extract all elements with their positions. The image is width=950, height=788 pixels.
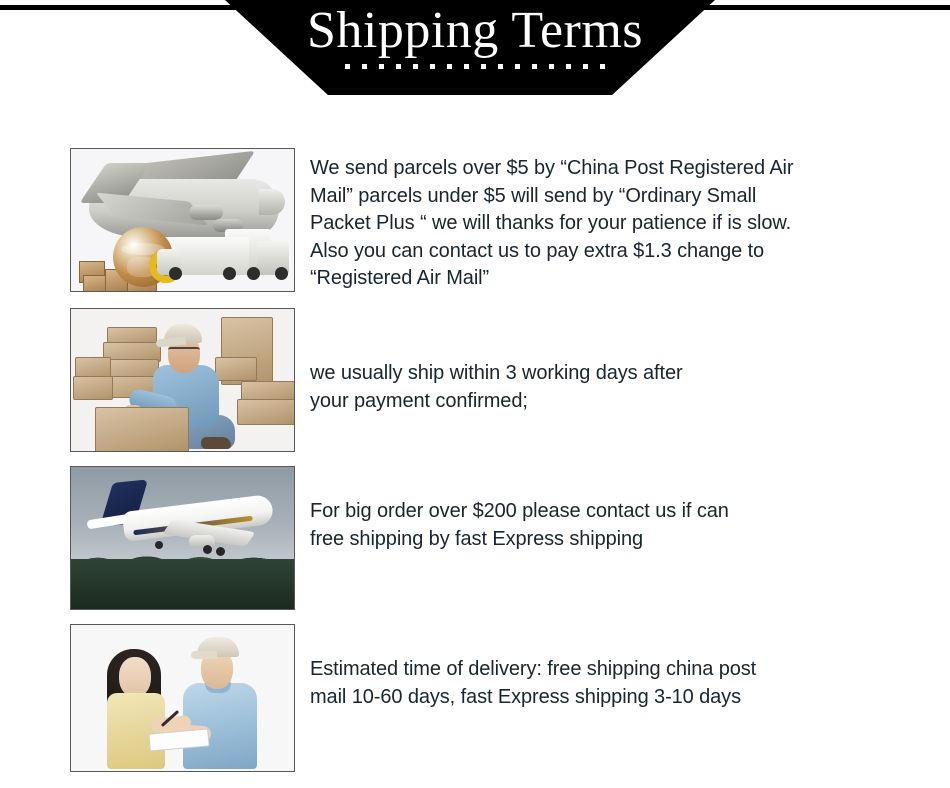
banner-dot (549, 64, 554, 69)
glasses-icon (168, 347, 200, 355)
shipping-term-text: we usually ship within 3 working days af… (310, 360, 810, 415)
shipping-term-row: Estimated time of delivery: free shippin… (0, 624, 950, 774)
cargo-plane-takeoff-photo (70, 466, 295, 610)
treeline (71, 559, 294, 609)
shipping-term-row: we usually ship within 3 working days af… (0, 308, 950, 456)
banner-dot (532, 64, 537, 69)
parcel-box (73, 376, 113, 400)
parcel-box (237, 399, 295, 425)
banner-dot (396, 64, 401, 69)
banner-dot (430, 64, 435, 69)
banner-dot (413, 64, 418, 69)
banner-dot (600, 64, 605, 69)
banner-dot (566, 64, 571, 69)
parcel-box (215, 357, 257, 381)
shipping-term-row: We send parcels over $5 by “China Post R… (0, 148, 950, 296)
delivery-van-body (175, 237, 249, 275)
banner-dot (362, 64, 367, 69)
page-title: Shipping Terms (0, 0, 950, 62)
customer-face (119, 657, 151, 697)
banner-dot (481, 64, 486, 69)
banner-dotted-divider (0, 64, 950, 69)
shipping-term-text: Estimated time of delivery: free shippin… (310, 656, 870, 711)
banner-dot (345, 64, 350, 69)
banner-dot (515, 64, 520, 69)
plane-nose (259, 189, 285, 215)
landing-gear-wheel (155, 541, 163, 549)
truck-wheel (247, 267, 260, 280)
parcel-box-foreground (95, 407, 189, 452)
plane-engine (189, 205, 223, 220)
truck-wheel (169, 267, 182, 280)
banner-dot (464, 64, 469, 69)
shipping-term-row: For big order over $200 please contact u… (0, 466, 950, 614)
courier-delivery-signature-photo (70, 624, 295, 772)
banner-dot (379, 64, 384, 69)
truck-wheel (275, 267, 288, 280)
courier-cap-brim (191, 651, 217, 659)
airplane-truck-globe-boxes-photo (70, 148, 295, 292)
landing-gear-wheel (203, 545, 212, 554)
worker-shoe (201, 437, 231, 449)
shipping-terms-banner: Shipping Terms (0, 0, 950, 100)
shipping-term-text: We send parcels over $5 by “China Post R… (310, 155, 850, 293)
banner-dot (498, 64, 503, 69)
banner-dot (583, 64, 588, 69)
banner-dot (447, 64, 452, 69)
landing-gear-wheel (216, 547, 225, 556)
worker-packing-boxes-photo (70, 308, 295, 452)
shipping-term-text: For big order over $200 please contact u… (310, 498, 830, 553)
truck-wheel (223, 267, 236, 280)
